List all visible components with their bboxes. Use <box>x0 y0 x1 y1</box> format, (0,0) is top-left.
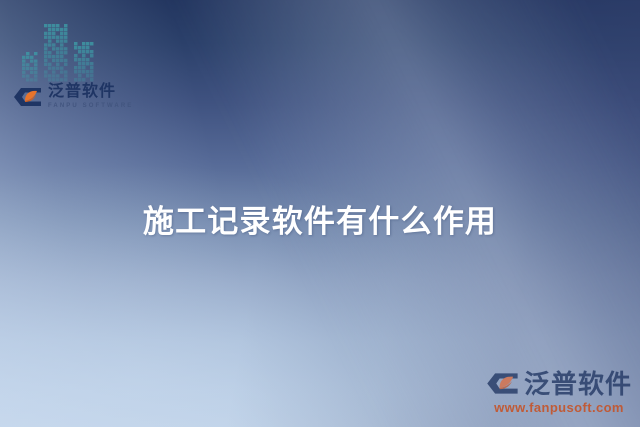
brand-name-cn: 泛普软件 <box>48 84 133 100</box>
banner-image: 泛普软件 FANPU SOFTWARE 施工记录软件有什么作用 泛普软件 www… <box>0 0 640 427</box>
fanpu-logo-icon <box>13 85 43 109</box>
watermark-url: www.fanpusoft.com <box>494 400 624 415</box>
watermark-logo-row: 泛普软件 <box>486 370 632 397</box>
watermark-name-cn: 泛普软件 <box>524 371 632 397</box>
watermark-bottom-right: 泛普软件 www.fanpusoft.com <box>486 370 632 415</box>
pixel-buildings-icon <box>18 22 98 84</box>
brand-name-en: FANPU SOFTWARE <box>48 103 133 109</box>
page-title: 施工记录软件有什么作用 <box>0 196 640 241</box>
brand-logo-top-left: 泛普软件 FANPU SOFTWARE <box>13 84 133 109</box>
fanpu-logo-icon <box>486 370 520 397</box>
